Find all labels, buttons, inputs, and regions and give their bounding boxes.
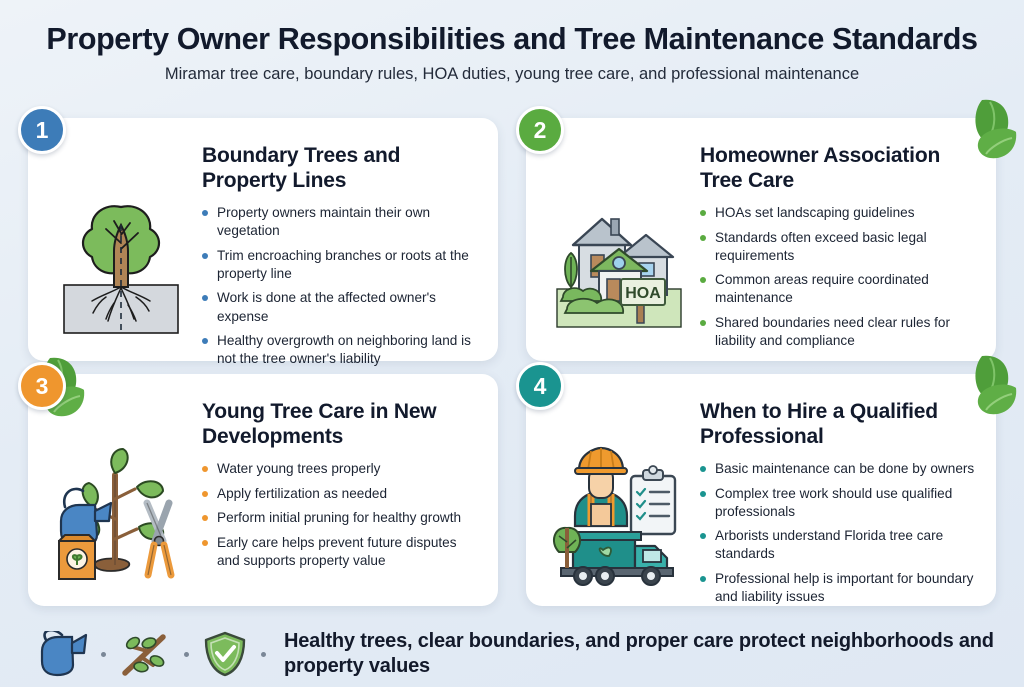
card-bullet-list: HOAs set landscaping guidelines Standard… xyxy=(700,204,978,350)
header: Property Owner Responsibilities and Tree… xyxy=(0,0,1024,85)
list-item: Basic maintenance can be done by owners xyxy=(700,460,978,478)
fertilizer-bag-icon xyxy=(59,535,95,579)
list-item: Professional help is important for bound… xyxy=(700,570,978,606)
list-item: Perform initial pruning for healthy grow… xyxy=(202,509,480,527)
card-number-badge: 1 xyxy=(18,106,66,154)
card-number-badge: 3 xyxy=(18,362,66,410)
list-item: HOAs set landscaping guidelines xyxy=(700,204,978,222)
card-hoa-tree-care[interactable]: 2 xyxy=(526,118,996,361)
card-bullet-list: Property owners maintain their own veget… xyxy=(202,204,480,368)
list-item: Complex tree work should use qualified p… xyxy=(700,485,978,521)
page-subtitle: Miramar tree care, boundary rules, HOA d… xyxy=(24,65,1000,85)
neighborhood-houses-with-hoa-sign-icon: HOA xyxy=(544,138,694,347)
list-item: Work is done at the affected owner's exp… xyxy=(202,289,480,325)
watering-can-icon xyxy=(36,631,88,677)
page-title: Property Owner Responsibilities and Tree… xyxy=(24,22,1000,56)
list-item: Early care helps prevent future disputes… xyxy=(202,534,480,570)
tree-with-roots-and-property-line-icon xyxy=(46,138,196,347)
list-item: Shared boundaries need clear rules for l… xyxy=(700,314,978,350)
footer-summary: Healthy trees, clear boundaries, and pro… xyxy=(28,629,996,679)
list-item: Water young trees properly xyxy=(202,460,480,478)
cards-grid: 1 xyxy=(28,118,996,606)
card-title: Boundary Trees and Property Lines xyxy=(202,144,480,193)
card-hire-professional[interactable]: 4 xyxy=(526,374,996,606)
separator-dot xyxy=(261,652,266,657)
shield-check-icon xyxy=(202,630,248,678)
card-young-tree-care[interactable]: 3 xyxy=(28,374,498,606)
sapling-watering-can-fertilizer-shears-icon xyxy=(46,394,196,592)
separator-dot xyxy=(101,652,106,657)
card-title: When to Hire a Qualified Professional xyxy=(700,400,978,449)
card-boundary-trees[interactable]: 1 xyxy=(28,118,498,361)
card-number-badge: 2 xyxy=(516,106,564,154)
leafy-branch-icon xyxy=(119,631,171,677)
list-item: Property owners maintain their own veget… xyxy=(202,204,480,240)
infographic-page: Property Owner Responsibilities and Tree… xyxy=(0,0,1024,687)
list-item: Standards often exceed basic legal requi… xyxy=(700,229,978,265)
footer-icon-row xyxy=(28,630,284,678)
footer-text: Healthy trees, clear boundaries, and pro… xyxy=(284,629,996,679)
list-item: Arborists understand Florida tree care s… xyxy=(700,527,978,563)
list-item: Common areas require coordinated mainten… xyxy=(700,271,978,307)
list-item: Trim encroaching branches or roots at th… xyxy=(202,247,480,283)
card-title: Young Tree Care in New Developments xyxy=(202,400,480,449)
card-bullet-list: Water young trees properly Apply fertili… xyxy=(202,460,480,570)
list-item: Healthy overgrowth on neighboring land i… xyxy=(202,332,480,368)
card-number-badge: 4 xyxy=(516,362,564,410)
separator-dot xyxy=(184,652,189,657)
card-title: Homeowner Association Tree Care xyxy=(700,144,978,193)
arborist-worker-clipboard-truck-icon xyxy=(544,394,694,592)
hoa-sign-label: HOA xyxy=(625,285,661,302)
card-bullet-list: Basic maintenance can be done by owners … xyxy=(700,460,978,606)
list-item: Apply fertilization as needed xyxy=(202,485,480,503)
